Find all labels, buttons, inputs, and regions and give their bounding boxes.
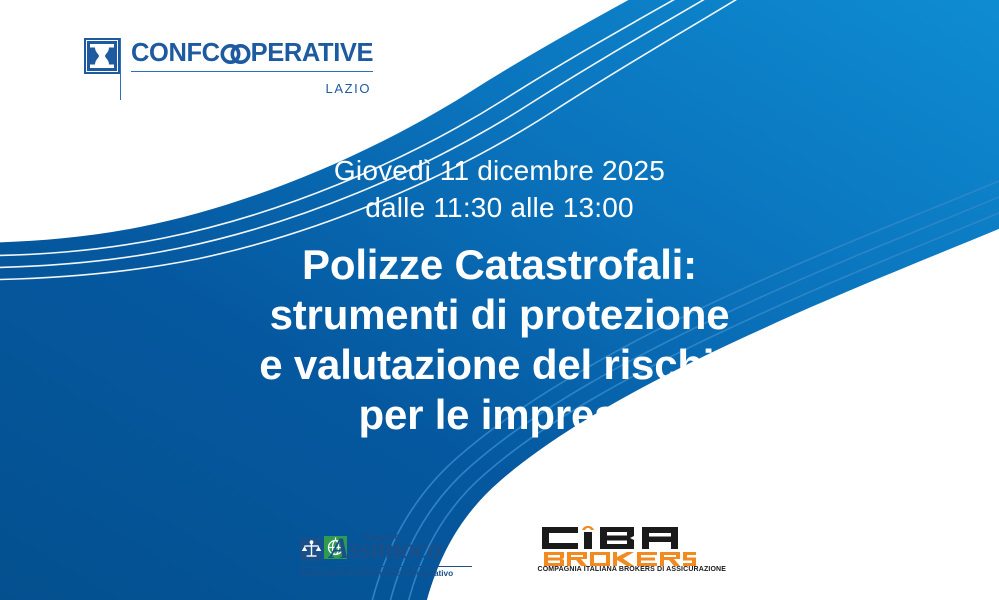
assimoco-tagline: ASSIcurazioni MOvimento COoperativo — [300, 568, 472, 578]
event-title: Polizze Catastrofali: strumenti di prote… — [0, 240, 999, 440]
title-line-1: Polizze Catastrofali: — [0, 240, 999, 290]
event-date: Giovedì 11 dicembre 2025 — [0, 152, 999, 189]
ciba-tagline: COMPAGNIA ITALIANA BROKERS DI ASSICURAZI… — [538, 566, 700, 573]
event-banner: CONFC PERATIVE LAZIO Giovedì 11 dicembre… — [0, 0, 999, 600]
wordmark-part-2: PERATIVE — [251, 38, 373, 68]
event-time: dalle 11:30 alle 13:00 — [0, 189, 999, 226]
confcooperative-logo: CONFC PERATIVE LAZIO — [84, 38, 373, 96]
title-line-2: strumenti di protezione — [0, 290, 999, 340]
wordmark-part-1: CONFC — [131, 38, 220, 68]
wordmark-underline — [131, 71, 373, 72]
ciba-subwordmark — [542, 551, 698, 567]
assimoco-wordmark: Assimoco — [330, 534, 442, 564]
ciba-wordmark — [538, 524, 700, 552]
title-line-3: e valutazione del rischio — [0, 340, 999, 390]
confcooperative-emblem-icon — [84, 38, 120, 74]
confcooperative-region-label: LAZIO — [131, 81, 373, 96]
logo-divider — [120, 38, 121, 100]
sponsor-logo-row: Gruppo Assimoco ASSIcurazioni MOvimento … — [0, 524, 999, 580]
assimoco-underline — [300, 566, 472, 567]
assimoco-logo: Gruppo Assimoco ASSIcurazioni MOvimento … — [300, 530, 472, 580]
confcooperative-wordmark-block: CONFC PERATIVE LAZIO — [131, 38, 373, 96]
confcooperative-wordmark: CONFC PERATIVE — [131, 38, 373, 68]
interlocking-oo-icon — [220, 41, 251, 66]
event-headline: Giovedì 11 dicembre 2025 dalle 11:30 all… — [0, 152, 999, 440]
ciba-brokers-logo: COMPAGNIA ITALIANA BROKERS DI ASSICURAZI… — [538, 524, 700, 580]
title-line-4: per le imprese — [0, 390, 999, 440]
